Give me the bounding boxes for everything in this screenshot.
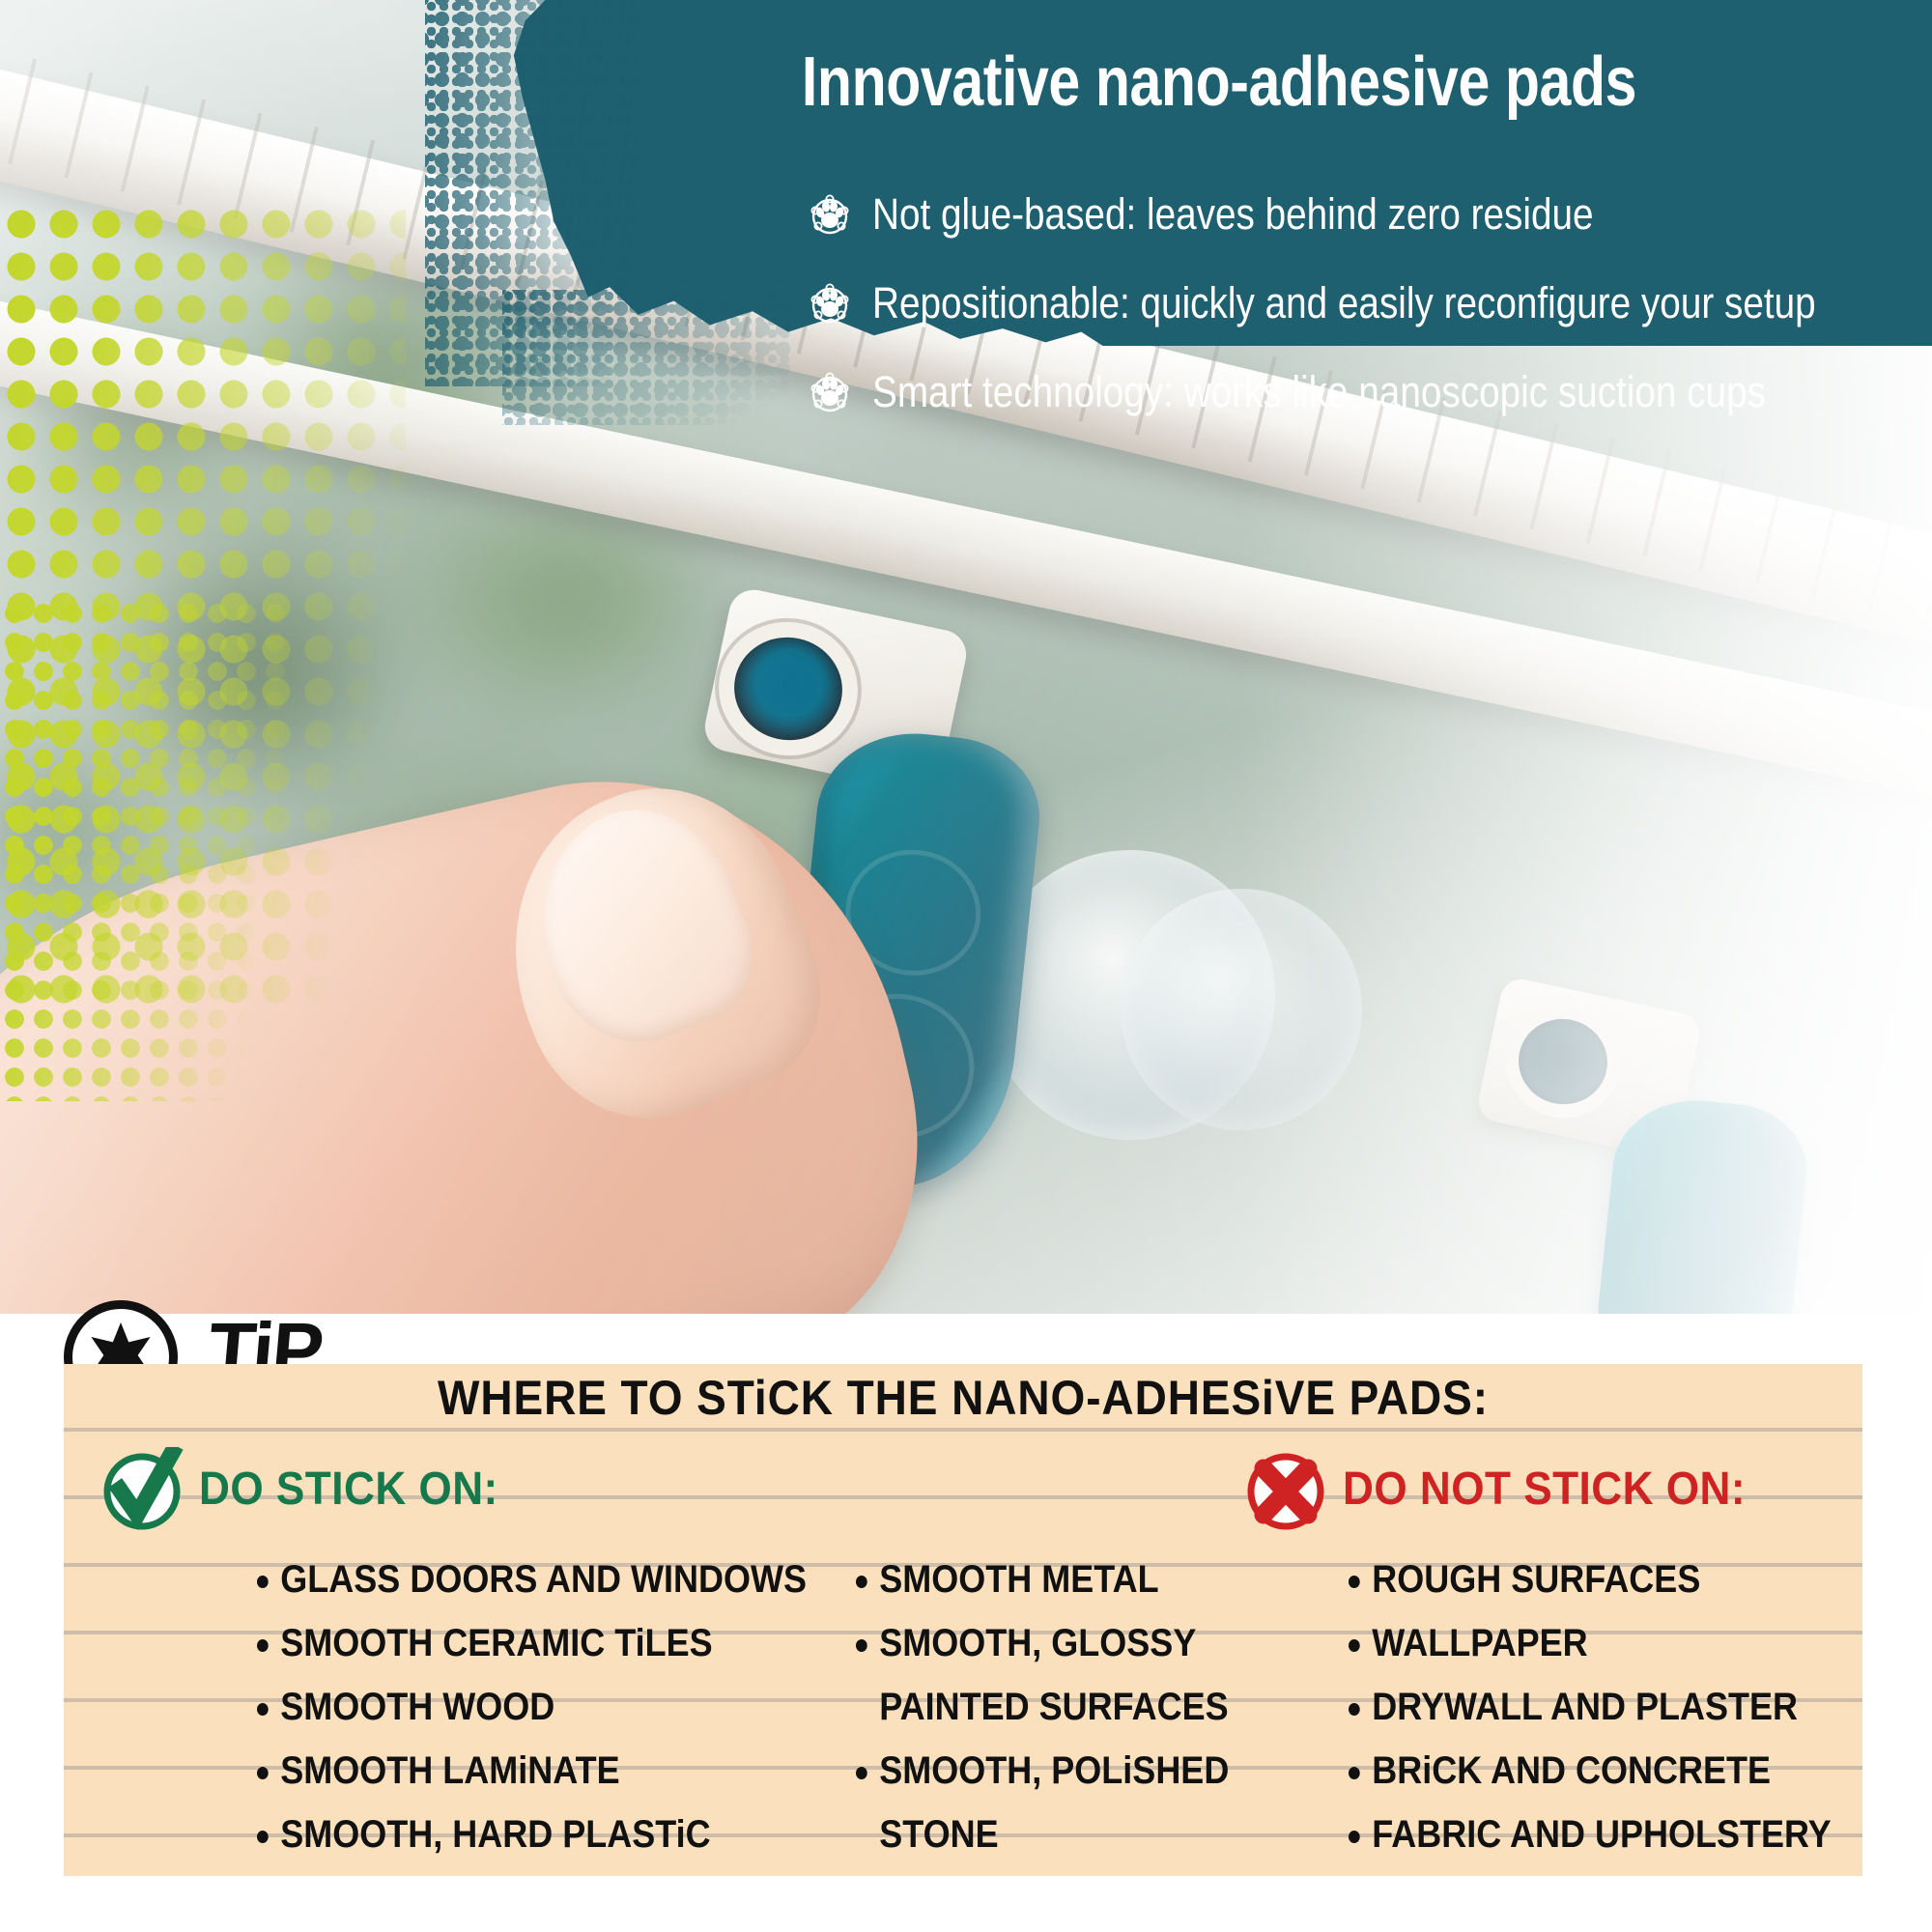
list-item: SMOOTH, POLiSHED <box>856 1739 1229 1803</box>
list-item: SMOOTH, HARD PLASTiC <box>257 1803 807 1866</box>
list-item-label: SMOOTH WOOD <box>280 1686 554 1728</box>
list-item-label: SMOOTH LAMiNATE <box>280 1749 619 1792</box>
list-item: SMOOTH WOOD <box>257 1675 807 1739</box>
feature-bullet-item: Repositionable: quickly and easily recon… <box>807 278 1889 328</box>
list-item: SMOOTH LAMiNATE <box>257 1739 807 1803</box>
list-item-label: STONE <box>879 1813 998 1856</box>
list-item: ROUGH SURFACES <box>1349 1548 1832 1611</box>
tip-panel-header: WHERE TO STiCK THE NANO-ADHESiVE PADS: <box>135 1370 1790 1426</box>
bullet-dot <box>257 1639 269 1652</box>
paw-pad-icon <box>807 280 853 327</box>
page-title: Innovative nano-adhesive pads <box>672 43 1766 122</box>
bullet-dot <box>1349 1767 1360 1779</box>
list-item-label: FABRIC AND UPHOLSTERY <box>1372 1813 1831 1856</box>
bullet-dot <box>1349 1703 1360 1716</box>
list-item: SMOOTH CERAMIC TiLES <box>257 1611 807 1675</box>
list-item-label: PAINTED SURFACES <box>879 1686 1228 1728</box>
bullet-dot <box>1349 1831 1360 1843</box>
list-item-label: BRiCK AND CONCRETE <box>1372 1749 1771 1792</box>
list-item: BRiCK AND CONCRETE <box>1349 1739 1832 1803</box>
paw-pad-icon <box>807 369 853 415</box>
feature-bullet-list: Not glue-based: leaves behind zero resid… <box>807 189 1889 456</box>
list-item-continuation: PAINTED SURFACES <box>856 1675 1229 1739</box>
do-not-stick-list: ROUGH SURFACES WALLPAPER DRYWALL AND PLA… <box>1349 1548 1862 1866</box>
list-item: SMOOTH METAL <box>856 1548 1229 1611</box>
list-item-label: SMOOTH CERAMIC TiLES <box>280 1622 712 1664</box>
bullet-dot <box>856 1767 867 1779</box>
list-item-label: DRYWALL AND PLASTER <box>1372 1686 1798 1728</box>
feature-bullet-item: Smart technology: works like nanoscopic … <box>807 367 1889 417</box>
bullet-dot <box>257 1831 269 1843</box>
list-item-label: GLASS DOORS AND WINDOWS <box>280 1558 807 1601</box>
feature-bullet-item: Not glue-based: leaves behind zero resid… <box>807 189 1889 240</box>
bullet-dot <box>257 1767 269 1779</box>
do-stick-list-column-2: SMOOTH METAL SMOOTH, GLOSSY PAINTED SURF… <box>856 1548 1270 1866</box>
lime-halftone-dots-fine <box>0 599 290 1101</box>
list-item-label: SMOOTH METAL <box>879 1558 1158 1601</box>
list-item-continuation: STONE <box>856 1803 1229 1866</box>
bullet-dot <box>1349 1576 1360 1588</box>
feature-bullet-label: Not glue-based: leaves behind zero resid… <box>872 189 1594 240</box>
bullet-dot <box>257 1576 269 1588</box>
list-item-label: SMOOTH, HARD PLASTiC <box>280 1813 710 1856</box>
x-circle-icon <box>1244 1447 1327 1530</box>
list-item-label: SMOOTH, GLOSSY <box>879 1622 1196 1664</box>
infographic-page: Innovative nano-adhesive pads N <box>0 0 1932 1932</box>
list-item-label: WALLPAPER <box>1372 1622 1587 1664</box>
bullet-dot <box>257 1703 269 1716</box>
list-item: WALLPAPER <box>1349 1611 1832 1675</box>
feature-bullet-label: Repositionable: quickly and easily recon… <box>872 278 1816 328</box>
bullet-dot <box>856 1639 867 1652</box>
list-item: GLASS DOORS AND WINDOWS <box>257 1548 807 1611</box>
bullet-dot <box>1349 1639 1360 1652</box>
do-stick-list-column-1: GLASS DOORS AND WINDOWS SMOOTH CERAMIC T… <box>257 1548 867 1866</box>
bullet-dot <box>856 1576 867 1588</box>
list-item: DRYWALL AND PLASTER <box>1349 1675 1832 1739</box>
list-item-label: SMOOTH, POLiSHED <box>879 1749 1229 1792</box>
do-stick-header: DO STICK ON: <box>100 1447 525 1530</box>
tip-panel: WHERE TO STiCK THE NANO-ADHESiVE PADS: D… <box>64 1364 1862 1876</box>
list-item: FABRIC AND UPHOLSTERY <box>1349 1803 1832 1866</box>
feature-bullet-label: Smart technology: works like nanoscopic … <box>872 367 1766 417</box>
do-not-stick-label: DO NOT STICK ON: <box>1343 1463 1746 1516</box>
do-not-stick-header: DO NOT STICK ON: <box>1244 1447 1780 1530</box>
do-stick-label: DO STICK ON: <box>199 1463 498 1516</box>
paw-pad-icon <box>807 191 853 238</box>
check-circle-icon <box>100 1447 184 1530</box>
list-item: SMOOTH, GLOSSY <box>856 1611 1229 1675</box>
list-item-label: ROUGH SURFACES <box>1372 1558 1700 1601</box>
